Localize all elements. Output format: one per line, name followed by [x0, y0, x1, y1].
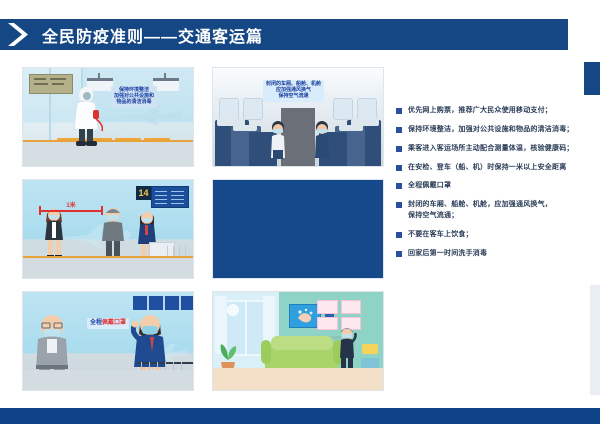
bullet-square-icon — [396, 165, 402, 171]
chevron-right-icon — [0, 19, 38, 50]
right-side-strip — [590, 285, 600, 395]
page-title: 全民防疫准则——交通客运篇 — [42, 23, 263, 47]
panel-blue-placeholder — [212, 179, 384, 279]
panel-train-ventilation: 封闭的车厢、船舱、机舱 应加强通风换气 保持空气流通 — [212, 67, 384, 167]
train-passenger-figure — [269, 120, 287, 160]
list-item: 在安检、登车（船、机）时保持一米以上安全距离 — [396, 163, 592, 174]
list-item-text: 乘客进入客运场所主动配合测量体温，核验健康码； — [408, 144, 574, 155]
footer-bar — [0, 408, 600, 424]
sun-icon — [227, 304, 239, 316]
list-item-text: 回家后第一时间洗手消毒 — [408, 249, 487, 260]
gate-number-sign: 14 — [136, 186, 151, 200]
list-item: 不要在客车上饮食； — [396, 230, 592, 241]
bullet-square-icon — [396, 232, 402, 238]
header-bar: 全民防疫准则——交通客运篇 — [0, 19, 568, 50]
panel-airport-disinfection: 保持环境整洁 加强对公共设施和 物品的清洁消毒 — [22, 67, 194, 167]
hazmat-worker-figure — [69, 86, 103, 148]
panel1-caption: 保持环境整洁 加强对公共设施和 物品的清洁消毒 — [111, 86, 157, 108]
list-item: 乘客进入客运场所主动配合测量体温，核验健康码； — [396, 144, 592, 155]
illustration-grid: 保持环境整洁 加强对公共设施和 物品的清洁消毒 — [22, 67, 384, 392]
list-item: 封闭的车厢、船舱、机舱，应加强通风换气， 保持空气流通； — [396, 200, 592, 222]
list-item-text: 全程佩戴口罩 — [408, 181, 451, 192]
list-item: 全程佩戴口罩 — [396, 181, 592, 192]
panel-airport-distance: 14 1米 — [22, 179, 194, 279]
list-item-text: 在安检、登车（船、机）时保持一米以上安全距离 — [408, 163, 566, 174]
list-item-text: 封闭的车厢、船舱、机舱，应加强通风换气， 保持空气流通； — [408, 200, 552, 222]
distance-label: 1米 — [66, 200, 75, 209]
panel5-caption: 全程佩戴口罩 — [87, 318, 129, 329]
guideline-list: 优先网上购票，推荐广大民众使用移动支付； 保持环境整洁，加强对公共设施和物品的清… — [396, 106, 592, 268]
bullet-square-icon — [396, 183, 402, 189]
panel-wear-mask: 全程佩戴口罩 — [22, 291, 194, 391]
list-item-text: 优先网上购票，推荐广大民众使用移动支付； — [408, 106, 552, 117]
returning-home-figure — [337, 324, 357, 374]
list-item: 回家后第一时间洗手消毒 — [396, 249, 592, 260]
bullet-square-icon — [396, 108, 402, 114]
male-traveller-figure — [99, 206, 127, 260]
bullet-square-icon — [396, 127, 402, 133]
panel2-caption: 封闭的车厢、船舱、机舱 应加强通风换气 保持空气流通 — [263, 80, 324, 102]
list-item: 优先网上购票，推荐广大民众使用移动支付； — [396, 106, 592, 117]
poster-page: 全民防疫准则——交通客运篇 — [0, 0, 600, 424]
bullet-square-icon — [396, 251, 402, 257]
floor — [23, 140, 193, 166]
floor — [213, 368, 383, 390]
bullet-square-icon — [396, 146, 402, 152]
floor — [23, 370, 193, 390]
header-right-accent — [584, 62, 600, 95]
bullet-square-icon — [396, 202, 402, 208]
one-meter-ruler: 1米 — [39, 202, 103, 214]
list-item-text: 不要在客车上饮食； — [408, 230, 473, 241]
list-item: 保持环境整洁，加强对公共设施和物品的清洁消毒； — [396, 125, 592, 136]
list-item-text: 保持环境整洁，加强对公共设施和物品的清洁消毒； — [408, 125, 574, 136]
train-passenger-figure — [313, 120, 331, 160]
panel-home-sanitize — [212, 291, 384, 391]
info-board-icon — [29, 74, 73, 94]
departure-board-icon — [151, 186, 189, 208]
table-lamp-icon — [361, 344, 379, 370]
floor — [23, 256, 193, 278]
